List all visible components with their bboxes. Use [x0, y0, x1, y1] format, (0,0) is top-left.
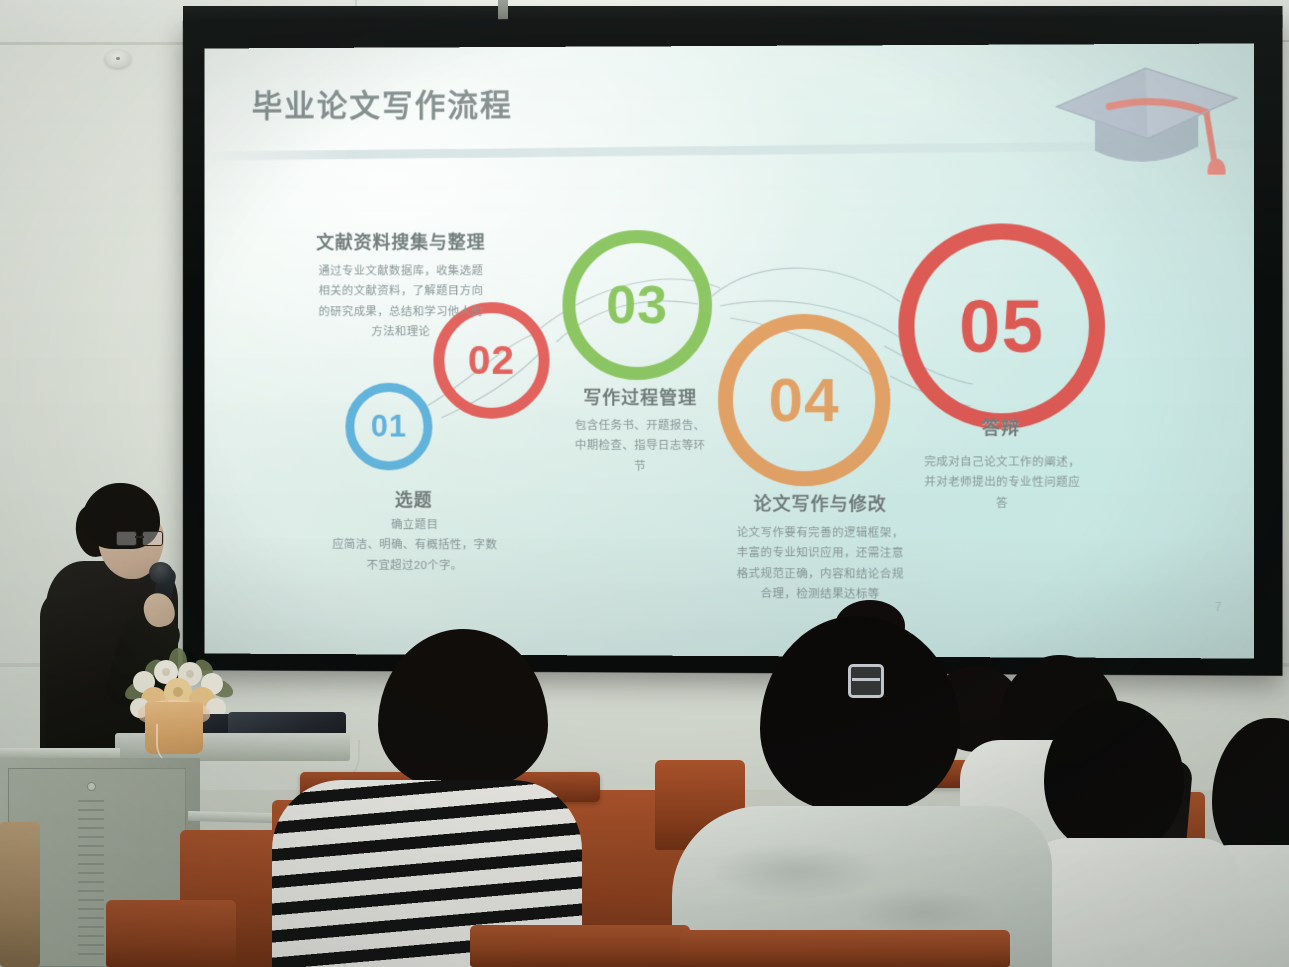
lectern-lock-icon[interactable]	[87, 782, 96, 791]
step-body-02: 通过专业文献数据库，收集选题 相关的文献资料，了解题目方向 的研究成果，总结和学…	[285, 261, 517, 343]
step-heading-01: 选题	[354, 486, 473, 512]
projected-slide: 毕业论文写作流程	[204, 43, 1254, 658]
step-heading-05: 答辩	[905, 414, 1097, 440]
step-ring-05: 05	[898, 223, 1105, 429]
step-heading-02: 文献资料搜集与整理	[287, 228, 515, 254]
step-heading-04: 论文写作与修改	[725, 490, 915, 516]
step-body-05: 完成对自己论文工作的阐述， 并对老师提出的专业性问题应 答	[890, 452, 1114, 514]
smoke-detector-led	[116, 57, 120, 60]
lectern-vents	[78, 800, 104, 960]
lectern-rail	[0, 748, 120, 758]
hair-clip-bar	[852, 678, 880, 681]
seat-back-front	[680, 930, 1010, 967]
seat-back-front	[106, 900, 236, 967]
seat-back-front	[470, 925, 690, 967]
glasses-bridge	[135, 536, 144, 538]
step-body-04: 论文写作要有完善的逻辑框架， 丰富的专业知识应用，还需注意 格式规范正确，内容和…	[716, 523, 925, 606]
step-ring-01: 01	[345, 383, 432, 471]
hair-clip-icon	[848, 664, 884, 698]
step-body-01: 确立题目 应简洁、明确、有概括性，字数 不宜超过20个字。	[291, 515, 539, 577]
photo-scene: 毕业论文写作流程	[0, 0, 1289, 967]
step-body-03: 包含任务书、开题报告、 中期检查、指导日志等环 节	[553, 416, 728, 478]
step-heading-03: 写作过程管理	[556, 384, 725, 410]
step-ring-03: 03	[562, 230, 712, 380]
side-seat-edge	[0, 822, 40, 967]
step-ring-04: 04	[718, 314, 890, 486]
slide-page-number: 7	[1215, 600, 1222, 614]
